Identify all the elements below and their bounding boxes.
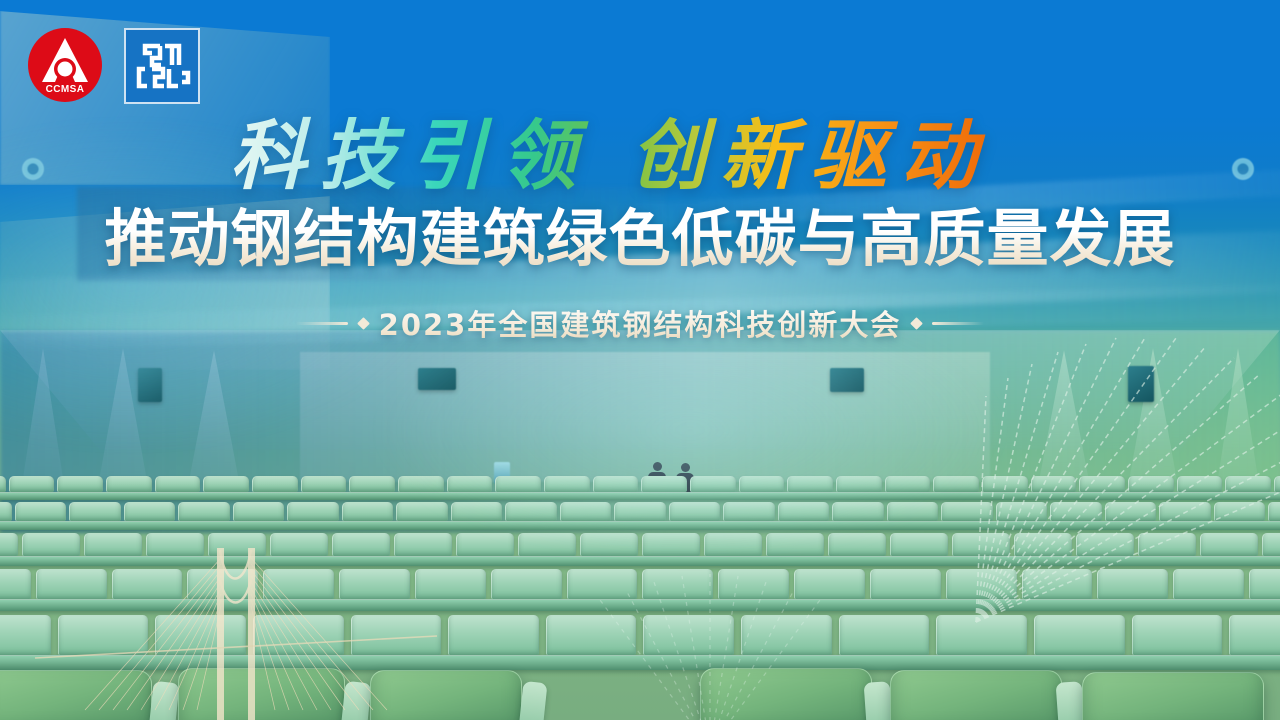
seat — [253, 615, 344, 655]
seat — [57, 476, 103, 492]
seat — [1097, 569, 1168, 599]
seat — [642, 533, 700, 556]
seat — [270, 533, 328, 556]
seat — [396, 502, 448, 521]
foreground-seat — [0, 670, 152, 720]
seat-row — [0, 569, 1280, 599]
seat — [252, 476, 298, 492]
seat — [941, 502, 993, 521]
wall-speaker — [1128, 366, 1154, 402]
calligraphy-text: 科技引领 创新驱动 — [230, 111, 990, 200]
seat — [1076, 533, 1134, 556]
seat — [1214, 502, 1266, 521]
seat — [146, 533, 204, 556]
seat — [155, 476, 201, 492]
seat — [9, 476, 55, 492]
seat — [839, 615, 930, 655]
cscec-mark-icon — [132, 38, 192, 94]
calligraphy-slogan: 科技引领 创新驱动 — [0, 108, 1280, 204]
seat — [1050, 502, 1102, 521]
seat — [669, 502, 721, 521]
foreground-seat — [700, 668, 872, 720]
seat — [495, 476, 541, 492]
seat — [996, 502, 1048, 521]
seat-row — [0, 533, 1280, 556]
seat — [642, 569, 713, 599]
foreground-seat — [890, 670, 1062, 720]
seat — [351, 615, 442, 655]
seat — [1225, 476, 1271, 492]
seat — [339, 569, 410, 599]
seat — [1138, 533, 1196, 556]
seat — [614, 502, 666, 521]
seat — [15, 502, 67, 521]
seat — [505, 502, 557, 521]
seat — [58, 615, 149, 655]
seat — [1022, 569, 1093, 599]
seat — [451, 502, 503, 521]
wall-speaker — [418, 368, 456, 390]
seat — [518, 533, 576, 556]
foreground-seat — [370, 670, 522, 720]
seat — [233, 502, 285, 521]
seat — [718, 569, 789, 599]
seat — [491, 569, 562, 599]
seat — [1274, 476, 1280, 492]
seat — [84, 533, 142, 556]
diamond-icon — [357, 317, 370, 330]
seat-row — [0, 476, 1280, 492]
seat — [836, 476, 882, 492]
seat — [0, 502, 12, 521]
seat — [544, 476, 590, 492]
seat — [456, 533, 514, 556]
seat — [546, 615, 637, 655]
seat — [641, 476, 687, 492]
desk-rail — [0, 556, 1280, 566]
seat — [106, 476, 152, 492]
seat — [870, 569, 941, 599]
ccmsa-acronym: CCMSA — [28, 84, 102, 95]
seat — [1268, 502, 1280, 521]
seat-row — [0, 502, 1280, 521]
diamond-icon — [910, 317, 923, 330]
seat — [448, 615, 539, 655]
seat — [0, 476, 6, 492]
seat — [263, 569, 334, 599]
foreground-seat — [1082, 672, 1264, 720]
seat — [787, 476, 833, 492]
seat — [739, 476, 785, 492]
seat — [1200, 533, 1258, 556]
calligraphy-svg: 科技引领 创新驱动 — [230, 108, 1050, 204]
seat — [287, 502, 339, 521]
seat — [936, 615, 1027, 655]
seat — [1079, 476, 1125, 492]
main-headline: 推动钢结构建筑绿色低碳与高质量发展 — [0, 206, 1280, 273]
logo-ccmsa[interactable]: CCMSA — [28, 28, 102, 102]
seat — [187, 569, 258, 599]
seat — [766, 533, 824, 556]
subtitle-text: 2023年全国建筑钢结构科技创新大会 — [379, 302, 902, 344]
seat — [203, 476, 249, 492]
seat — [1249, 569, 1280, 599]
seat — [560, 502, 612, 521]
seat — [155, 615, 246, 655]
seat — [1105, 502, 1157, 521]
seat — [1031, 476, 1077, 492]
seat — [704, 533, 762, 556]
seat — [398, 476, 444, 492]
seat — [69, 502, 121, 521]
seat — [593, 476, 639, 492]
seat — [415, 569, 486, 599]
seat — [933, 476, 979, 492]
seat — [952, 533, 1010, 556]
seat — [982, 476, 1028, 492]
seat — [36, 569, 107, 599]
seat — [447, 476, 493, 492]
subtitle-rule-right — [932, 322, 984, 325]
seat — [887, 502, 939, 521]
seat — [178, 502, 230, 521]
seat — [885, 476, 931, 492]
seat — [394, 533, 452, 556]
seat — [0, 569, 31, 599]
subtitle-rule-left — [296, 322, 348, 325]
wall-speaker — [138, 368, 162, 402]
seat — [1262, 533, 1280, 556]
foreground-seat — [178, 668, 345, 720]
seat — [22, 533, 80, 556]
seat — [332, 533, 390, 556]
wall-speaker — [830, 368, 864, 392]
conference-banner: CCMSA — [0, 0, 1280, 720]
seat — [1159, 502, 1211, 521]
seat — [124, 502, 176, 521]
seat — [580, 533, 638, 556]
seat — [1132, 615, 1223, 655]
seat — [1177, 476, 1223, 492]
seat — [832, 502, 884, 521]
seat — [828, 533, 886, 556]
seat — [1128, 476, 1174, 492]
seat — [1173, 569, 1244, 599]
seat — [349, 476, 395, 492]
subtitle-row: 2023年全国建筑钢结构科技创新大会 — [0, 302, 1280, 344]
seat — [208, 533, 266, 556]
seat — [567, 569, 638, 599]
seat — [342, 502, 394, 521]
seat — [690, 476, 736, 492]
seat — [946, 569, 1017, 599]
seat — [890, 533, 948, 556]
seat — [778, 502, 830, 521]
seat — [643, 615, 734, 655]
audience-seating — [0, 470, 1280, 720]
seat — [1229, 615, 1280, 655]
logo-cscec[interactable] — [124, 28, 200, 104]
logo-bar: CCMSA — [28, 28, 200, 104]
seat — [112, 569, 183, 599]
seat-row — [0, 615, 1280, 655]
seat — [0, 533, 18, 556]
seat — [1034, 615, 1125, 655]
desk-rail — [0, 492, 1280, 500]
seat — [794, 569, 865, 599]
seat — [723, 502, 775, 521]
desk-rail — [0, 521, 1280, 530]
seat — [0, 615, 51, 655]
desk-rail — [0, 599, 1280, 611]
seat — [1014, 533, 1072, 556]
seat — [741, 615, 832, 655]
seat — [301, 476, 347, 492]
